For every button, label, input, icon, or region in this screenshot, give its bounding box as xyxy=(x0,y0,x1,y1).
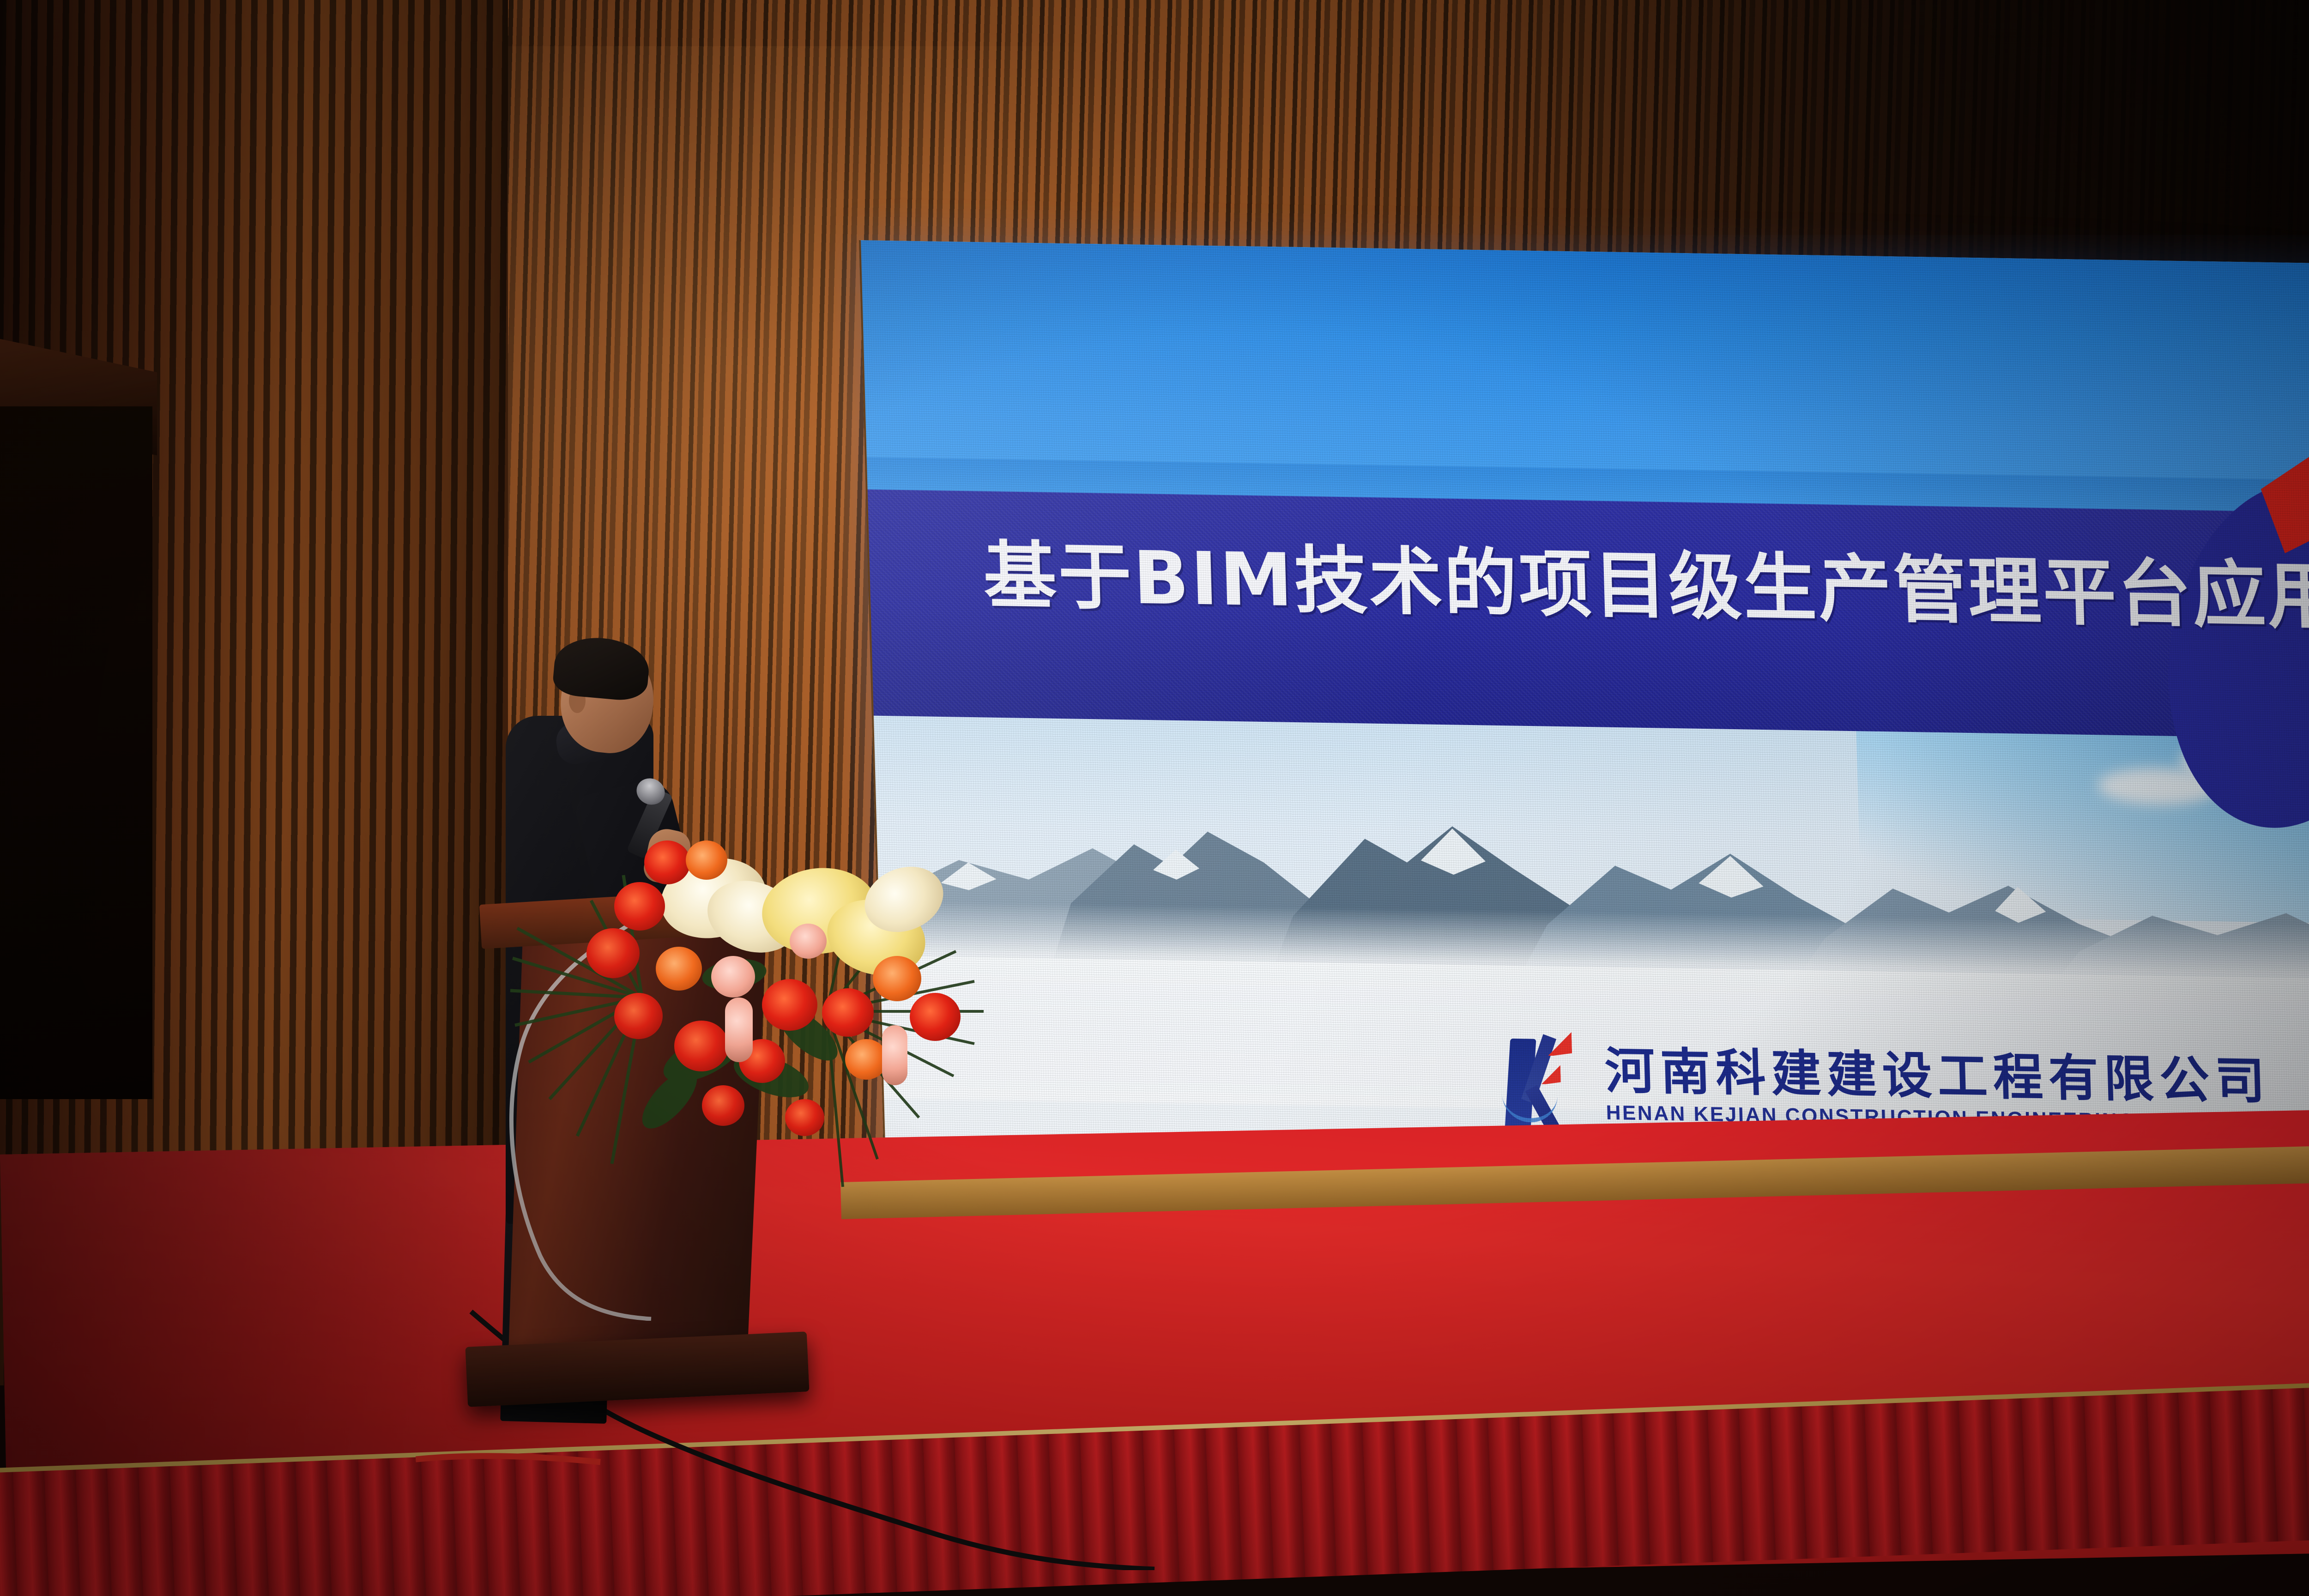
gerbera-flower xyxy=(586,928,640,978)
gerbera-flower xyxy=(762,979,817,1031)
rose-flower xyxy=(790,924,827,959)
gerbera-flower xyxy=(822,988,874,1037)
gerbera-flower xyxy=(910,993,961,1041)
gerbera-flower xyxy=(614,882,665,931)
gerbera-flower xyxy=(702,1085,744,1126)
kejian-k-logo-icon xyxy=(1499,1030,1590,1137)
gerbera-flower xyxy=(614,993,663,1039)
led-screen: 基于BIM技术的项目级生产管理平台应用 河南科建建设工程有限公司 HENAN K… xyxy=(859,240,2309,1252)
floral-arrangement xyxy=(586,840,974,1191)
company-name-cn: 河南科建建设工程有限公司 xyxy=(1604,1045,2271,1108)
carnation-flower xyxy=(686,840,727,880)
gerbera-flower xyxy=(644,840,690,884)
gerbera-flower xyxy=(674,1021,729,1071)
filler-flower xyxy=(882,1025,907,1085)
carnation-flower xyxy=(656,947,702,991)
carnation-flower xyxy=(845,1039,888,1080)
filler-flower xyxy=(725,997,753,1062)
backstage-opening xyxy=(0,406,152,1099)
rose-flower xyxy=(711,956,755,997)
carnation-flower xyxy=(873,956,921,1001)
presentation-stage-photo: 基于BIM技术的项目级生产管理平台应用 河南科建建设工程有限公司 HENAN K… xyxy=(0,0,2309,1596)
slide-title: 基于BIM技术的项目级生产管理平台应用 xyxy=(982,516,2309,643)
led-screen-surface: 基于BIM技术的项目级生产管理平台应用 河南科建建设工程有限公司 HENAN K… xyxy=(859,240,2309,1252)
gerbera-flower xyxy=(785,1099,824,1136)
